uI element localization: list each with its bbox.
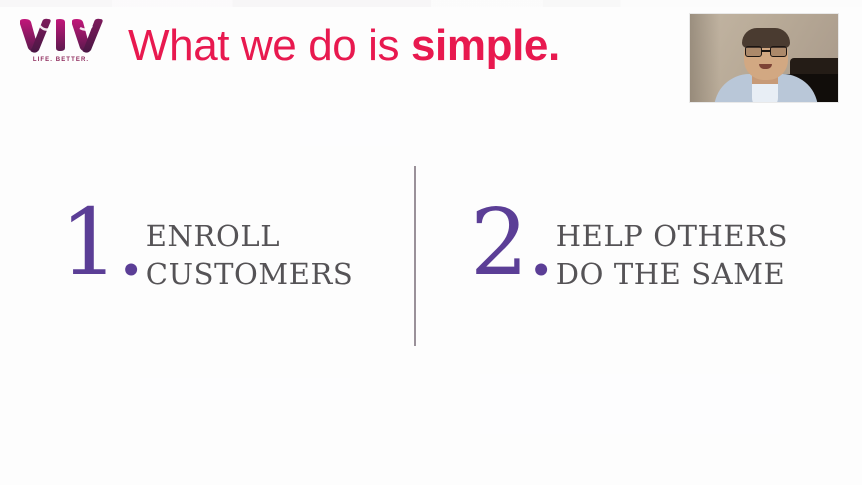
item-label-line: HELP OTHERS [556, 217, 788, 255]
compression-artifact-block [140, 378, 350, 400]
viv-wordmark-icon [18, 18, 104, 54]
item-numeral: 1. [60, 201, 144, 285]
vertical-divider [414, 166, 416, 346]
glasses-bridge [762, 50, 770, 52]
presenter-webcam-feed[interactable] [690, 14, 838, 102]
headline-normal: What we do is [128, 21, 411, 70]
webcam-person-hair [742, 28, 790, 48]
item-numeral: 2. [470, 201, 554, 285]
viv-logo: LIFE. BETTER. [18, 18, 106, 74]
slide-headline: What we do is simple. [128, 20, 560, 72]
item-label-line: CUSTOMERS [146, 255, 354, 293]
list-item: 1. ENROLL CUSTOMERS [60, 205, 353, 293]
headline-period: . [548, 21, 560, 70]
glasses-left-lens [745, 46, 762, 57]
list-item: 2. HELP OTHERS DO THE SAME [470, 205, 788, 293]
compression-artifact-block [300, 112, 400, 146]
item-label: HELP OTHERS DO THE SAME [556, 217, 788, 293]
webcam-person-glasses [745, 46, 787, 57]
headline-emphasis: simple [411, 21, 548, 70]
presentation-slide: LIFE. BETTER. What we do is simple. 1. E… [0, 0, 862, 485]
item-label: ENROLL CUSTOMERS [146, 217, 354, 293]
webcam-wall-shadow [690, 14, 720, 102]
item-label-line: ENROLL [146, 217, 354, 255]
compression-artifact-strip [0, 0, 862, 7]
logo-tagline: LIFE. BETTER. [18, 57, 104, 63]
glasses-right-lens [770, 46, 787, 57]
item-label-line: DO THE SAME [556, 255, 788, 293]
compression-artifact-block [480, 374, 780, 434]
